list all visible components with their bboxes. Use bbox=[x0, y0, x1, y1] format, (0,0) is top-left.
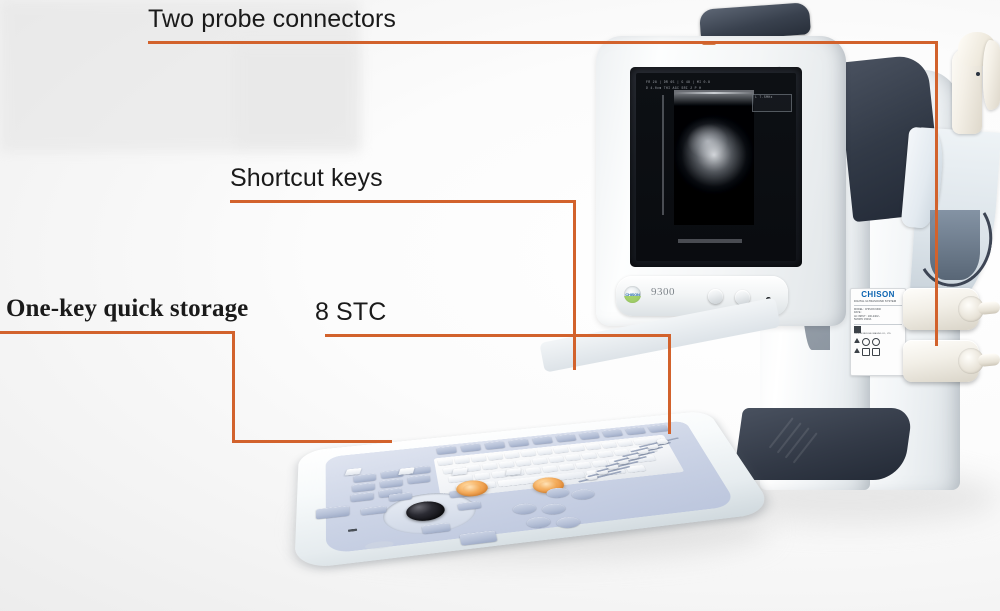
callout-foot-one-key-quick-storage bbox=[232, 440, 392, 443]
probe-upper-grip bbox=[983, 40, 1000, 110]
key[interactable] bbox=[471, 455, 486, 462]
key[interactable] bbox=[515, 459, 531, 466]
spec-row: 50/60Hz 150VA bbox=[854, 318, 902, 322]
weee-bin-icon bbox=[854, 326, 861, 333]
monitor-brightness-knob[interactable] bbox=[708, 289, 723, 304]
shortcut-key[interactable] bbox=[602, 429, 623, 437]
manual-icon bbox=[862, 348, 870, 356]
probe-upper-marker bbox=[976, 72, 980, 76]
spec-manufacturer: CHISON MEDICAL IMAGING CO., LTD. bbox=[854, 333, 902, 336]
probe-connector-bottom-cable bbox=[977, 353, 1000, 367]
shortcut-key[interactable] bbox=[625, 427, 646, 435]
callout-label-shortcut-keys: Shortcut keys bbox=[230, 164, 383, 193]
shortcut-key[interactable] bbox=[436, 446, 457, 455]
key[interactable] bbox=[525, 467, 541, 474]
spec-label-brand: CHISON bbox=[854, 291, 902, 299]
ultrasound-scanline bbox=[674, 92, 754, 94]
ultrasound-image bbox=[674, 90, 754, 225]
shortcut-key[interactable] bbox=[555, 434, 576, 443]
callout-drop-two-probe-connectors bbox=[935, 41, 938, 346]
machine-base bbox=[733, 408, 913, 480]
spec-label: CHISON DIGITAL ULTRASOUND SYSTEM MODEL :… bbox=[850, 288, 906, 376]
warning-icon-row-2 bbox=[854, 348, 902, 356]
caution-circle-icon bbox=[862, 338, 870, 346]
callout-drop-shortcut-keys bbox=[573, 200, 576, 370]
key[interactable] bbox=[438, 459, 453, 466]
callout-drop-one-key-quick-storage bbox=[232, 331, 235, 443]
hourglass-icon bbox=[872, 348, 880, 356]
warning-triangle-icon bbox=[854, 338, 860, 343]
osd-probe-label: L 7.5MHz bbox=[755, 95, 773, 100]
shortcut-key[interactable] bbox=[647, 424, 668, 432]
warning-icon-row bbox=[854, 338, 902, 346]
spec-label-subtitle: DIGITAL ULTRASOUND SYSTEM bbox=[854, 300, 902, 304]
shortcut-key[interactable] bbox=[579, 431, 600, 439]
key[interactable] bbox=[482, 463, 498, 470]
monitor-model-text: 9300 bbox=[651, 286, 675, 298]
shock-hazard-icon bbox=[854, 348, 860, 353]
shortcut-key[interactable] bbox=[508, 439, 529, 448]
key[interactable] bbox=[454, 457, 469, 464]
key[interactable] bbox=[548, 456, 564, 463]
chison-logo-badge: CHISON bbox=[624, 286, 641, 303]
key[interactable] bbox=[521, 450, 537, 457]
key[interactable] bbox=[532, 457, 548, 464]
key[interactable] bbox=[499, 461, 515, 468]
shortcut-key[interactable] bbox=[484, 441, 505, 450]
key[interactable] bbox=[542, 465, 558, 472]
osd-line-1: FR 28 | DR 65 | G 48 | MI 0.8 bbox=[646, 80, 710, 85]
screen-bottom-bar bbox=[678, 239, 742, 243]
callout-underline-8-stc bbox=[325, 334, 671, 337]
key[interactable] bbox=[504, 452, 520, 459]
osd-line-2: D 4.0cm THI AGC SRI 2 P H bbox=[646, 86, 701, 91]
monitor-screen: FR 28 | DR 65 | G 48 | MI 0.8 D 4.0cm TH… bbox=[636, 73, 796, 261]
callout-label-one-key-quick-storage: One-key quick storage bbox=[6, 295, 248, 323]
shortcut-key[interactable] bbox=[460, 443, 481, 452]
callout-underline-one-key-quick-storage bbox=[0, 331, 235, 334]
callout-underline-two-probe-connectors bbox=[148, 41, 938, 44]
key[interactable] bbox=[537, 448, 553, 455]
callout-label-8-stc: 8 STC bbox=[315, 298, 386, 327]
key[interactable] bbox=[488, 453, 504, 460]
screen-depth-bar bbox=[662, 95, 664, 215]
divider bbox=[854, 305, 902, 306]
screenshot-canvas: FR 28 | DR 65 | G 48 | MI 0.8 D 4.0cm TH… bbox=[0, 0, 1000, 611]
callout-label-two-probe-connectors: Two probe connectors bbox=[148, 5, 396, 34]
key[interactable] bbox=[474, 472, 490, 480]
callout-underline-shortcut-keys bbox=[230, 200, 576, 203]
probe-connector-top-cable bbox=[977, 301, 1000, 315]
callout-drop-8-stc bbox=[668, 334, 671, 434]
logo-text: CHISON bbox=[625, 292, 639, 297]
divider bbox=[854, 324, 902, 325]
ce-mark-icon bbox=[872, 338, 880, 346]
shortcut-key[interactable] bbox=[532, 436, 553, 445]
